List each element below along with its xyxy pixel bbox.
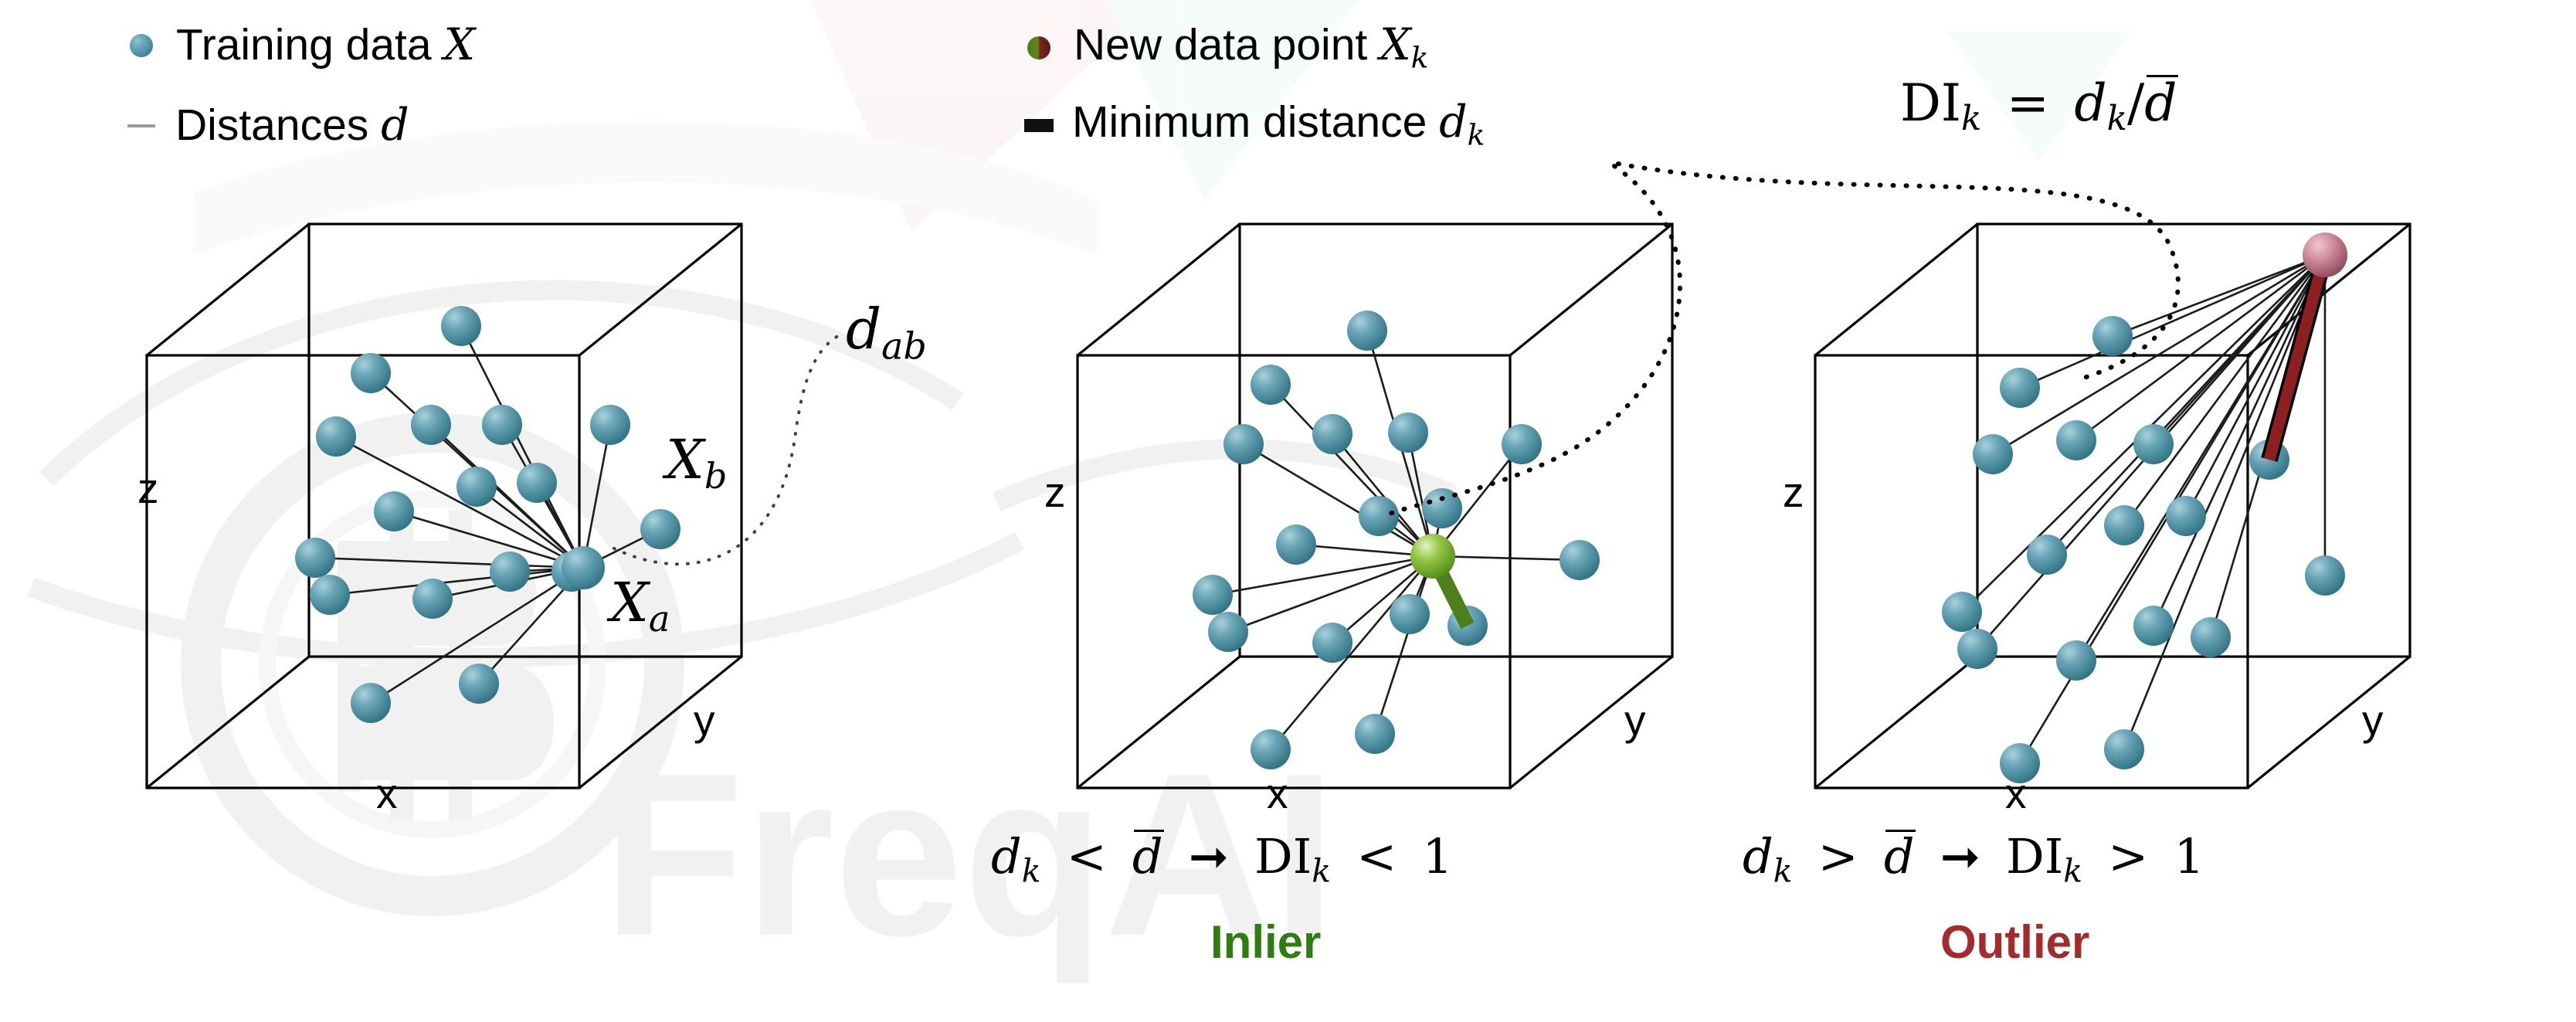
- callout-line-minimum-distance-inlier: [1383, 166, 1680, 516]
- callout-line-minimum-distance-outlier: [1618, 164, 2178, 379]
- callout-connectors: [0, 0, 2576, 1022]
- label-d-ab: dab: [846, 301, 927, 365]
- callout-line-dab: [614, 334, 842, 564]
- label-x-a: Xa: [610, 576, 670, 637]
- label-x-b: Xb: [666, 433, 727, 494]
